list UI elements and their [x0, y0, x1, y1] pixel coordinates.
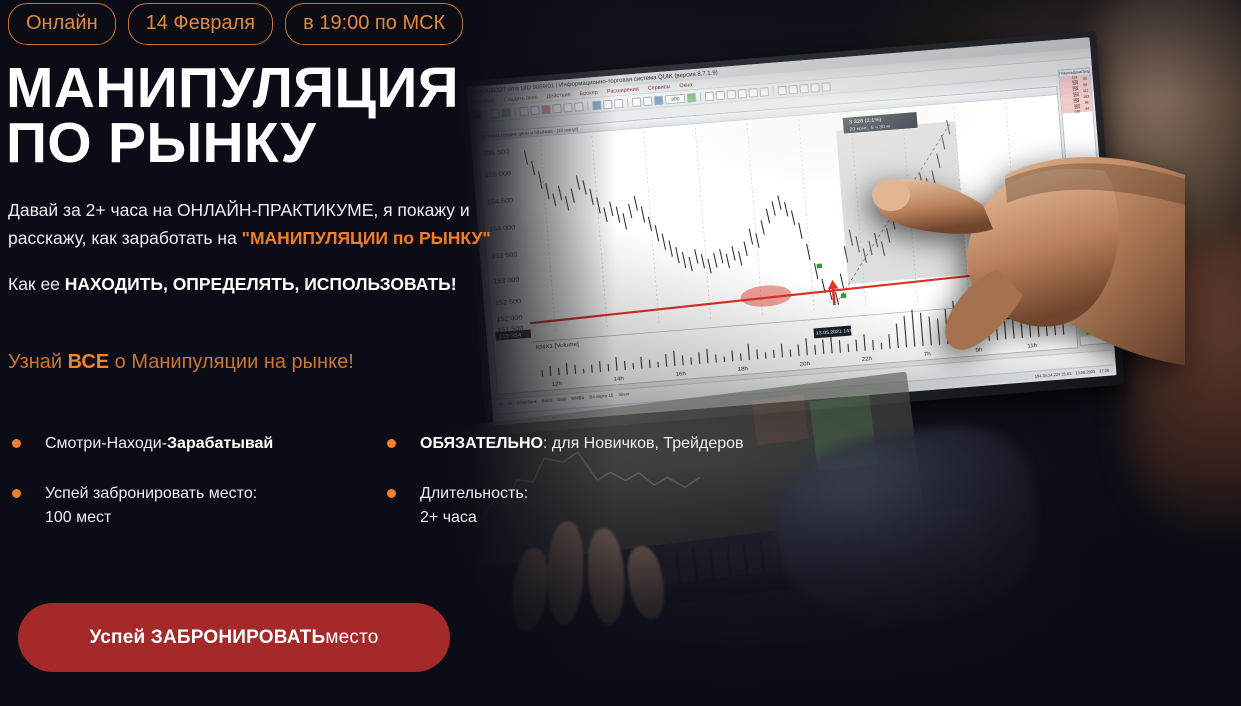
toolbar-separator — [627, 98, 629, 107]
refresh-icon[interactable] — [810, 83, 820, 93]
menu-item-5[interactable]: Сервисы — [647, 83, 670, 91]
lead-paragraph: Давай за 2+ часа на ОНЛАЙН-ПРАКТИКУМЕ, я… — [8, 196, 538, 253]
text-tool-icon[interactable] — [603, 99, 613, 109]
eye-tool-icon[interactable] — [592, 100, 602, 110]
toolbar-separator — [772, 86, 774, 95]
bullet-text: Успей забронировать место: 100 мест — [45, 482, 257, 530]
bullet-tail: : для Новичков, Трейдеров — [543, 435, 744, 452]
hero-photo: AD06COT sms UID 9069/01 | Информационно-… — [440, 0, 1241, 706]
menu-item-6[interactable]: Окна — [679, 82, 692, 89]
cta-strong: Успей ЗАБРОНИРОВАТЬ — [89, 627, 325, 649]
book-seat-button[interactable]: Успей ЗАБРОНИРОВАТЬ место — [18, 603, 450, 672]
flash-icon[interactable] — [799, 83, 809, 93]
badge-time[interactable]: в 19:00 по МСК — [285, 3, 463, 45]
svg-text:14h: 14h — [613, 376, 624, 382]
svg-text:20h: 20h — [800, 361, 811, 367]
svg-text:16h: 16h — [675, 371, 686, 377]
badge-date[interactable]: 14 Февраля — [128, 3, 274, 45]
subline: Узнай ВСЕ о Манипуляции на рынке! — [8, 351, 560, 374]
cta-light: место — [325, 627, 378, 649]
draw-tool-icon[interactable] — [614, 98, 624, 108]
hero-section: AD06COT sms UID 9069/01 | Информационно-… — [0, 0, 1241, 706]
list-item: Успей забронировать место: 100 мест — [0, 482, 375, 530]
lead-accent: "МАНИПУЛЯЦИИ по РЫНКУ" — [242, 228, 491, 248]
bullet-text: Длительность: 2+ часа — [420, 482, 528, 530]
instrument-select[interactable]: ЭП0 — [665, 93, 686, 104]
alert-icon[interactable] — [788, 84, 798, 94]
clock-icon[interactable] — [777, 85, 787, 95]
search-tool-icon[interactable] — [643, 96, 653, 106]
list-item: Длительность: 2+ часа — [375, 482, 795, 530]
bullet-dot-icon — [12, 439, 21, 448]
entry-marker-2 — [841, 293, 847, 298]
chart-tool-icon[interactable] — [563, 102, 573, 112]
toolbar-separator — [700, 92, 702, 101]
lock-icon[interactable] — [748, 88, 758, 98]
bars-tool-icon[interactable] — [654, 95, 664, 105]
menu-item-3[interactable]: Брокер — [579, 89, 598, 96]
zoom-in-icon[interactable] — [716, 90, 726, 100]
move-tool-icon[interactable] — [705, 91, 715, 101]
entry-marker-1 — [817, 264, 823, 269]
tab-vlkarta[interactable]: Вл.карта 15 — [589, 393, 613, 400]
toolbar-separator — [587, 101, 589, 110]
hand-shape — [855, 55, 1185, 385]
bullet-text: Смотри-Находи-Зарабатывай — [45, 432, 273, 456]
bullet-dot-icon — [387, 489, 396, 498]
page-title: МАНИПУЛЯЦИЯ ПО РЫНКУ — [6, 61, 560, 172]
plus-tool-icon[interactable] — [687, 92, 697, 102]
print-icon[interactable] — [759, 87, 769, 97]
hero-content: Онлайн 14 Февраля в 19:00 по МСК МАНИПУЛ… — [0, 0, 560, 706]
menu-item-4[interactable]: Расширения — [607, 86, 639, 95]
bullet-text: ОБЯЗАТЕЛЬНО: для Новичков, Трейдеров — [420, 432, 744, 456]
bullet-columns: Смотри-Находи-Зарабатывай Успей забронир… — [0, 432, 800, 556]
pointing-hand — [855, 55, 1185, 385]
pencil-icon[interactable] — [737, 88, 747, 98]
howto-line: Как ее НАХОДИТЬ, ОПРЕДЕЛЯТЬ, ИСПОЛЬЗОВАТ… — [8, 274, 560, 295]
settings-icon[interactable] — [821, 82, 831, 92]
badge-format[interactable]: Онлайн — [8, 3, 116, 45]
bullet-dot-icon — [12, 489, 21, 498]
list-item: Смотри-Находи-Зарабатывай — [0, 432, 375, 456]
tab-mmvb[interactable]: ММВБ — [571, 395, 584, 401]
howto-prefix: Как ее — [8, 274, 65, 294]
list-item: ОБЯЗАТЕЛЬНО: для Новичков, Трейдеров — [375, 432, 795, 456]
subline-suffix: о Манипуляции на рынке! — [109, 351, 354, 373]
bullet-strong: Зарабатывай — [167, 435, 273, 452]
title-line-2: ПО РЫНКУ — [6, 116, 560, 171]
bullet-column-left: Смотри-Находи-Зарабатывай Успей забронир… — [0, 432, 375, 556]
bullet-strong: ОБЯЗАТЕЛЬНО — [420, 435, 543, 452]
tab-silver[interactable]: Silver — [618, 391, 629, 397]
subline-prefix: Узнай — [8, 351, 68, 373]
bullet-dot-icon — [387, 439, 396, 448]
bullet-plain: Смотри-Находи- — [45, 435, 167, 452]
badge-row: Онлайн 14 Февраля в 19:00 по МСК — [0, 0, 560, 45]
function-tool-icon[interactable] — [632, 97, 642, 107]
zoom-tool-icon[interactable] — [574, 102, 584, 112]
howto-strong: НАХОДИТЬ, ОПРЕДЕЛЯТЬ, ИСПОЛЬЗОВАТЬ! — [65, 274, 457, 294]
bullet-column-right: ОБЯЗАТЕЛЬНО: для Новичков, Трейдеров Дли… — [375, 432, 795, 556]
svg-text:18h: 18h — [737, 366, 748, 372]
zoom-out-icon[interactable] — [727, 89, 737, 99]
subline-strong: ВСЕ — [68, 351, 109, 373]
